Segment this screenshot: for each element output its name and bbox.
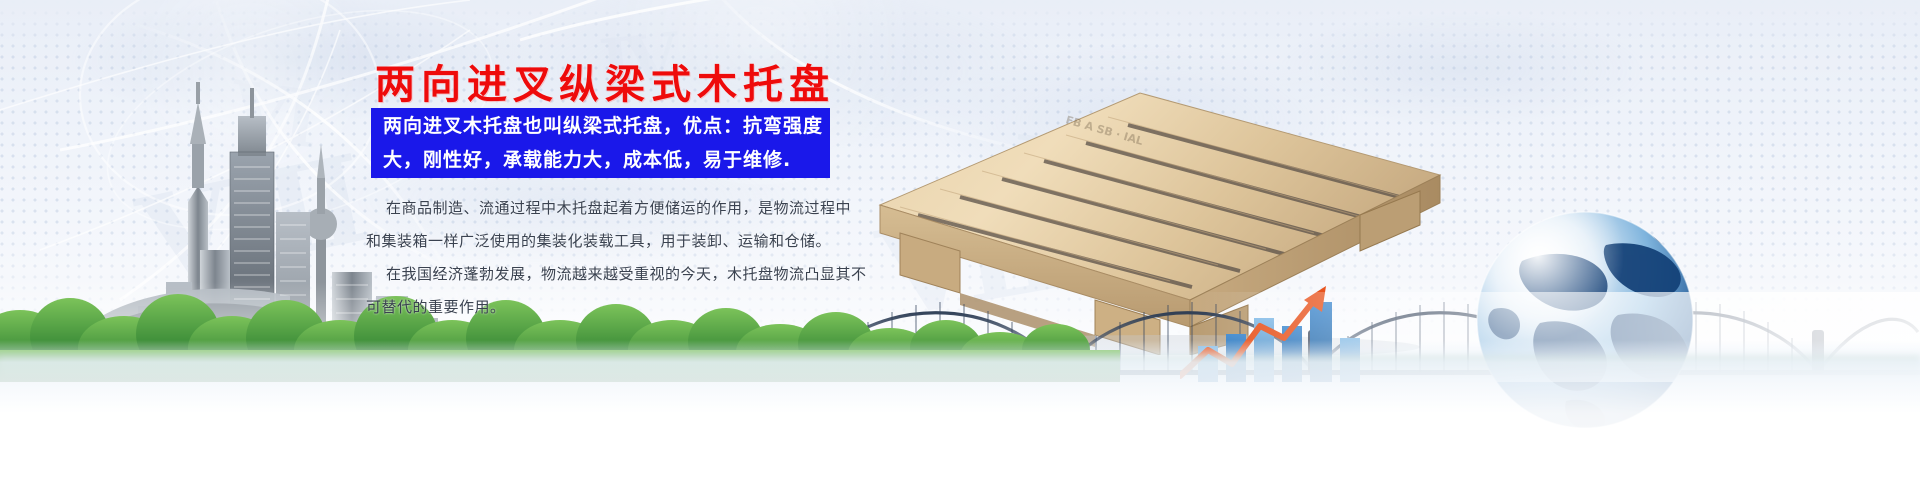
description-line-3: 在我国经济蓬勃发展，物流越来越受重视的今天，木托盘物流凸显其不 — [366, 263, 846, 285]
highlight-line-2: 大，刚性好，承载能力大，成本低，易于维修. — [383, 143, 818, 177]
description-paragraphs: 在商品制造、流通过程中木托盘起着方便储运的作用，是物流过程中 和集装箱一样广泛使… — [366, 197, 846, 329]
highlight-line-1: 两向进叉木托盘也叫纵梁式托盘，优点：抗弯强度 — [383, 109, 818, 143]
description-line-4: 可替代的重要作用。 — [366, 296, 846, 318]
water-reflection-band — [0, 340, 1920, 500]
highlight-callout-box: 两向进叉木托盘也叫纵梁式托盘，优点：抗弯强度 大，刚性好，承载能力大，成本低，易… — [371, 108, 830, 178]
product-banner: Ⅷ Ⅵ Ⅶ Ⅸ Ⅳ — [0, 0, 1920, 500]
description-line-2: 和集装箱一样广泛使用的集装化装载工具，用于装卸、运输和仓储。 — [366, 230, 846, 252]
description-line-1: 在商品制造、流通过程中木托盘起着方便储运的作用，是物流过程中 — [366, 197, 846, 219]
page-title: 两向进叉纵梁式木托盘 — [375, 52, 835, 110]
